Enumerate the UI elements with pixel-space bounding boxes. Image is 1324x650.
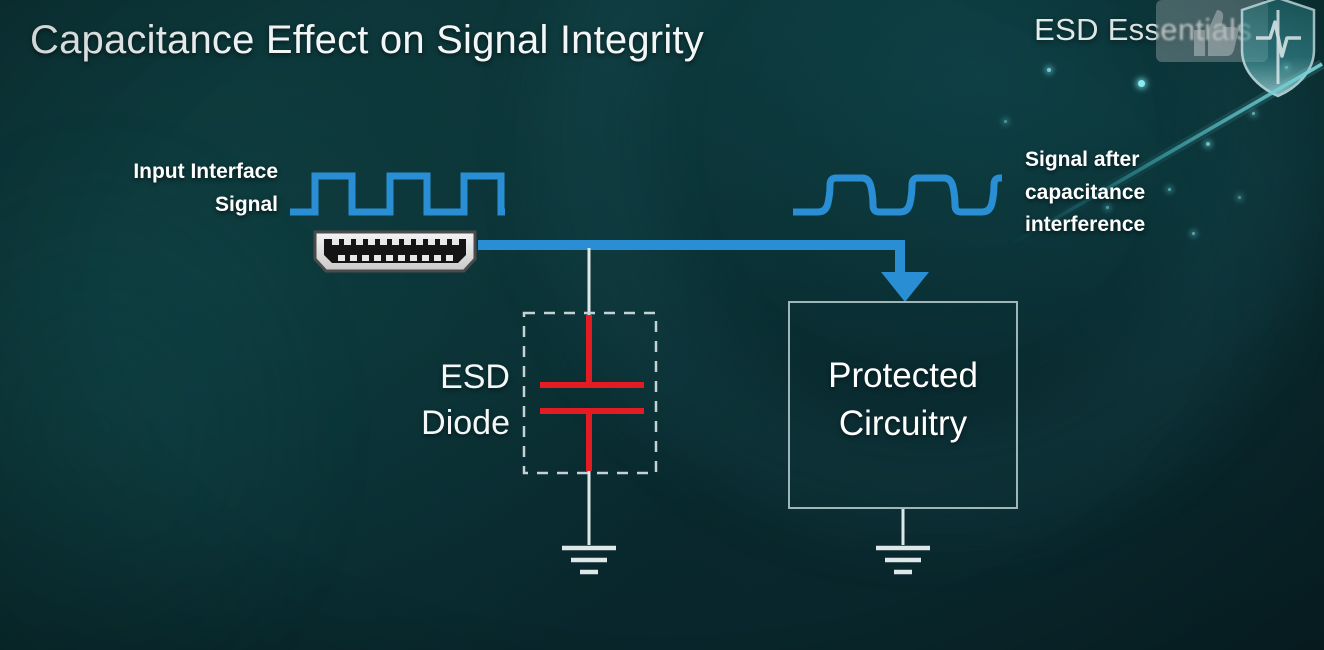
output-signal-label-line3: interference: [1025, 209, 1255, 242]
output-waveform: [793, 178, 1002, 212]
esd-diode-label-line1: ESD: [400, 355, 510, 401]
protected-circuitry-label: Protected Circuitry: [788, 352, 1018, 449]
particle: [1004, 120, 1007, 123]
thumbs-up-icon: [1184, 4, 1240, 60]
slide-canvas: Capacitance Effect on Signal Integrity E…: [0, 0, 1324, 650]
hdmi-connector: [310, 229, 480, 274]
vignette-overlay: [0, 0, 1324, 650]
input-signal-label: Input Interface Signal: [30, 156, 278, 221]
particle: [1252, 112, 1255, 115]
output-signal-label-line2: capacitance: [1025, 177, 1255, 210]
particle: [1047, 68, 1051, 72]
signal-flow-arrow: [478, 243, 929, 302]
ground-symbol-left: [562, 548, 616, 572]
protected-circuitry-label-line1: Protected: [788, 352, 1018, 400]
output-signal-label-line1: Signal after: [1025, 144, 1255, 177]
esd-diode-capacitor: [524, 313, 656, 473]
ground-symbol-right: [876, 548, 930, 572]
shield-icon: [1238, 0, 1318, 100]
protected-circuitry-label-line2: Circuitry: [788, 400, 1018, 448]
output-signal-label: Signal after capacitance interference: [1025, 144, 1255, 242]
particle: [1138, 80, 1145, 87]
esd-diode-label-line2: Diode: [400, 401, 510, 447]
esd-diode-label: ESD Diode: [400, 355, 510, 447]
page-title: Capacitance Effect on Signal Integrity: [30, 18, 704, 63]
input-signal-label-line1: Input Interface: [30, 156, 278, 189]
circuit-diagram: [0, 0, 1324, 650]
input-waveform: [290, 176, 505, 212]
input-signal-label-line2: Signal: [30, 189, 278, 222]
